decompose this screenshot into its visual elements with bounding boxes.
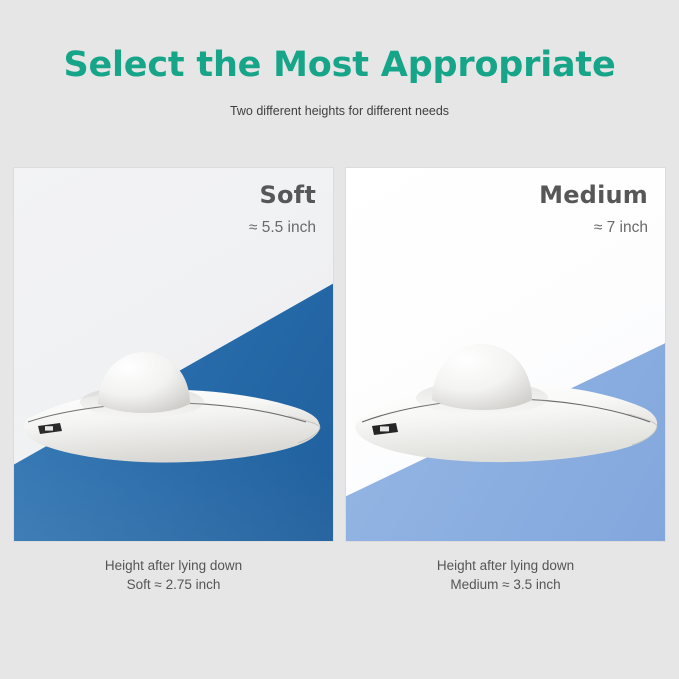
- caption-soft: Height after lying down Soft ≈ 2.75 inch: [14, 556, 333, 594]
- caption-soft-line1: Height after lying down: [14, 556, 333, 575]
- pillow-icon: [20, 346, 325, 476]
- panel-medium[interactable]: Medium ≈ 7 inch: [346, 168, 665, 541]
- pressure-ball: [432, 344, 532, 410]
- panel-name-medium: Medium: [539, 180, 648, 210]
- pillow-icon: [350, 338, 660, 478]
- caption-medium-line1: Height after lying down: [346, 556, 665, 575]
- comparison-panels: Soft ≈ 5.5 inch: [14, 168, 665, 541]
- caption-soft-line2: Soft ≈ 2.75 inch: [14, 575, 333, 594]
- panel-labels-medium: Medium ≈ 7 inch: [539, 180, 648, 238]
- panel-name-soft: Soft: [249, 180, 316, 210]
- caption-medium: Height after lying down Medium ≈ 3.5 inc…: [346, 556, 665, 594]
- panel-labels-soft: Soft ≈ 5.5 inch: [249, 180, 316, 238]
- page-subtitle: Two different heights for different need…: [0, 86, 679, 119]
- panel-captions: Height after lying down Soft ≈ 2.75 inch…: [14, 556, 665, 594]
- panel-height-medium: ≈ 7 inch: [539, 210, 648, 238]
- pressure-ball: [98, 352, 190, 413]
- caption-medium-line2: Medium ≈ 3.5 inch: [346, 575, 665, 594]
- panel-height-soft: ≈ 5.5 inch: [249, 210, 316, 238]
- page-title: Select the Most Appropriate: [0, 44, 679, 86]
- infographic-page: Select the Most Appropriate Two differen…: [0, 0, 679, 679]
- panel-soft[interactable]: Soft ≈ 5.5 inch: [14, 168, 333, 541]
- header: Select the Most Appropriate Two differen…: [0, 44, 679, 119]
